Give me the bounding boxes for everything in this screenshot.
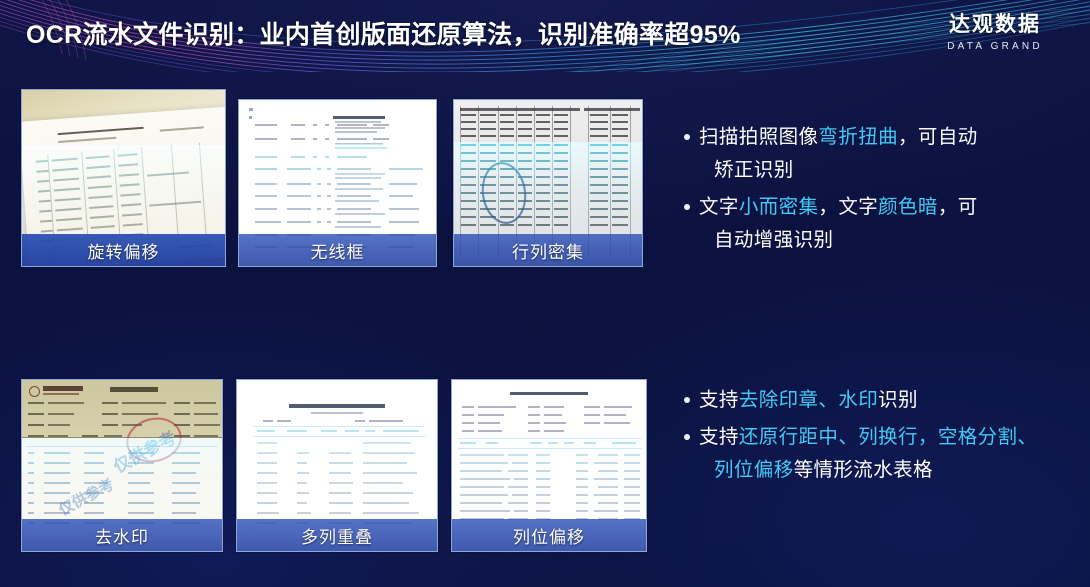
text-segment: ，可自动 — [898, 126, 978, 148]
text-segment-highlight: 去除印章、水印 — [739, 389, 878, 411]
text-segment: 等情形流水表格 — [794, 459, 933, 481]
logo-cn-text: 达观数据 — [922, 12, 1068, 38]
card-multi-column-overlap[interactable]: 多列重叠 — [236, 379, 438, 552]
bullet-dot-icon — [684, 134, 690, 140]
card-remove-watermark[interactable]: 仅供参考 仅供参考 去水印 — [21, 379, 223, 552]
text-segment-highlight: 列位偏移 — [714, 459, 794, 481]
logo-en-text: DATA GRAND — [922, 39, 1068, 54]
text-segment: ，可 — [938, 196, 978, 218]
bank-logo-icon — [29, 386, 40, 397]
bullet-text: 支持还原行距中、列换行，空格分割、 列位偏移等情形流水表格 — [699, 421, 1037, 487]
text-segment-highlight: 弯折扭曲 — [818, 126, 898, 148]
text-segment: 矫正识别 — [714, 159, 794, 181]
text-segment-highlight: 颜色暗 — [878, 196, 938, 218]
card-caption: 旋转偏移 — [22, 234, 225, 266]
card-borderless-table[interactable]: 无线框 — [238, 99, 437, 267]
slide-root: OCR流水文件识别：业内首创版面还原算法，识别准确率超95% 达观数据 DATA… — [0, 0, 1090, 587]
bullet-text: 扫描拍照图像弯折扭曲，可自动 矫正识别 — [699, 121, 978, 187]
bullet-item: 扫描拍照图像弯折扭曲，可自动 矫正识别 — [684, 121, 1074, 187]
bullet-text: 支持去除印章、水印识别 — [699, 384, 918, 417]
bullets-layout-restore: 支持去除印章、水印识别 支持还原行距中、列换行，空格分割、 列位偏移等情形流水表… — [684, 384, 1074, 491]
card-caption: 列位偏移 — [452, 519, 646, 551]
card-caption: 无线框 — [239, 234, 436, 266]
page-title: OCR流水文件识别：业内首创版面还原算法，识别准确率超95% — [26, 18, 741, 52]
text-segment: 支持 — [699, 426, 739, 448]
bullet-dot-icon — [684, 397, 690, 403]
card-column-shift[interactable]: 列位偏移 — [451, 379, 647, 552]
bullet-text: 文字小而密集，文字颜色暗，可 自动增强识别 — [699, 191, 978, 257]
text-segment: 识别 — [878, 389, 918, 411]
text-segment: ，文字 — [818, 196, 878, 218]
brand-logo: 达观数据 DATA GRAND — [922, 12, 1068, 54]
text-segment: 自动增强识别 — [714, 229, 833, 251]
text-segment-highlight: 小而密集 — [739, 196, 819, 218]
card-caption: 多列重叠 — [237, 519, 437, 551]
bullets-image-quality: 扫描拍照图像弯折扭曲，可自动 矫正识别 文字小而密集，文字颜色暗，可 自动增强识… — [684, 121, 1074, 261]
bullet-dot-icon — [684, 204, 690, 210]
bullet-item: 支持还原行距中、列换行，空格分割、 列位偏移等情形流水表格 — [684, 421, 1074, 487]
card-dense-rows-cols[interactable]: 行列密集 — [453, 99, 643, 267]
bullet-dot-icon — [684, 434, 690, 440]
card-caption: 去水印 — [22, 519, 222, 551]
text-segment: 支持 — [699, 389, 739, 411]
text-segment-highlight: 还原行距中、列换行，空格分割、 — [739, 426, 1038, 448]
bullet-item: 支持去除印章、水印识别 — [684, 384, 1074, 417]
text-segment: 扫描拍照图像 — [699, 126, 818, 148]
text-segment: 文字 — [699, 196, 739, 218]
bullet-item: 文字小而密集，文字颜色暗，可 自动增强识别 — [684, 191, 1074, 257]
card-rotation-offset[interactable]: 旋转偏移 — [21, 89, 226, 267]
card-caption: 行列密集 — [454, 234, 642, 266]
